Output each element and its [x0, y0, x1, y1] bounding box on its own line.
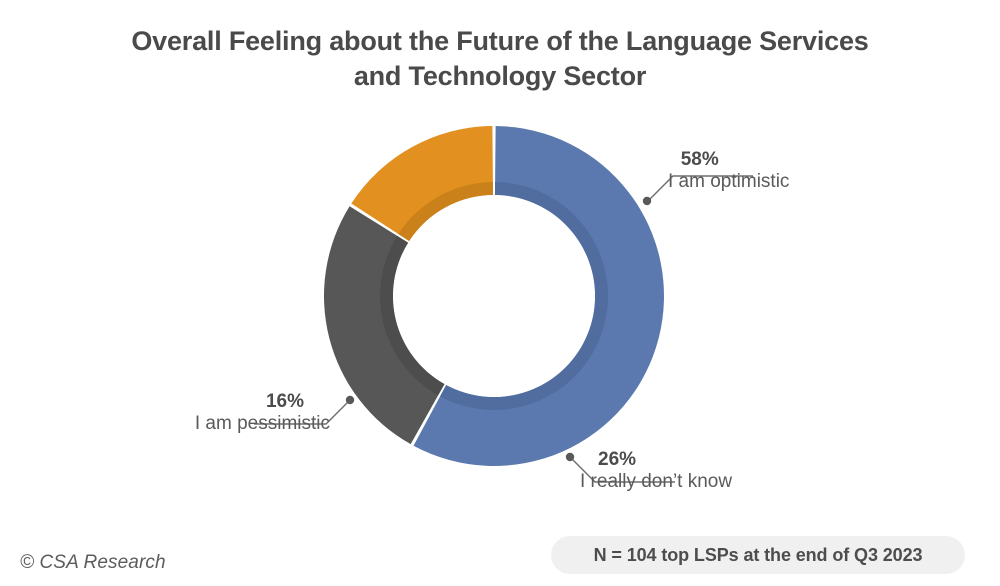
callout-optimistic-label: I am optimistic: [668, 170, 789, 194]
donut-chart: 58% I am optimistic 16% I am pessimistic…: [0, 0, 1000, 520]
sample-size-badge: N = 104 top LSPs at the end of Q3 2023: [551, 536, 965, 574]
callout-optimistic-value: 58%: [668, 150, 789, 170]
leader-dot-pessimistic: [346, 396, 354, 404]
callout-pessimistic: 16% I am pessimistic: [148, 392, 330, 436]
copyright-notice: © CSA Research: [20, 552, 166, 574]
chart-page: Overall Feeling about the Future of the …: [0, 0, 1000, 586]
leader-dot-dontknow: [566, 453, 574, 461]
callout-optimistic: 58% I am optimistic: [668, 150, 789, 194]
sample-size-text: N = 104 top LSPs at the end of Q3 2023: [594, 545, 923, 566]
callout-pessimistic-label: I am pessimistic: [148, 412, 330, 436]
callout-dontknow-value: 26%: [580, 450, 732, 470]
callout-dontknow: 26% I really don’t know: [580, 450, 732, 494]
callout-dontknow-label: I really don’t know: [580, 470, 732, 494]
leader-dot-optimistic: [643, 197, 651, 205]
callout-pessimistic-value: 16%: [148, 392, 330, 412]
donut-hole: [393, 195, 595, 397]
donut-chart-svg: [0, 0, 1000, 520]
